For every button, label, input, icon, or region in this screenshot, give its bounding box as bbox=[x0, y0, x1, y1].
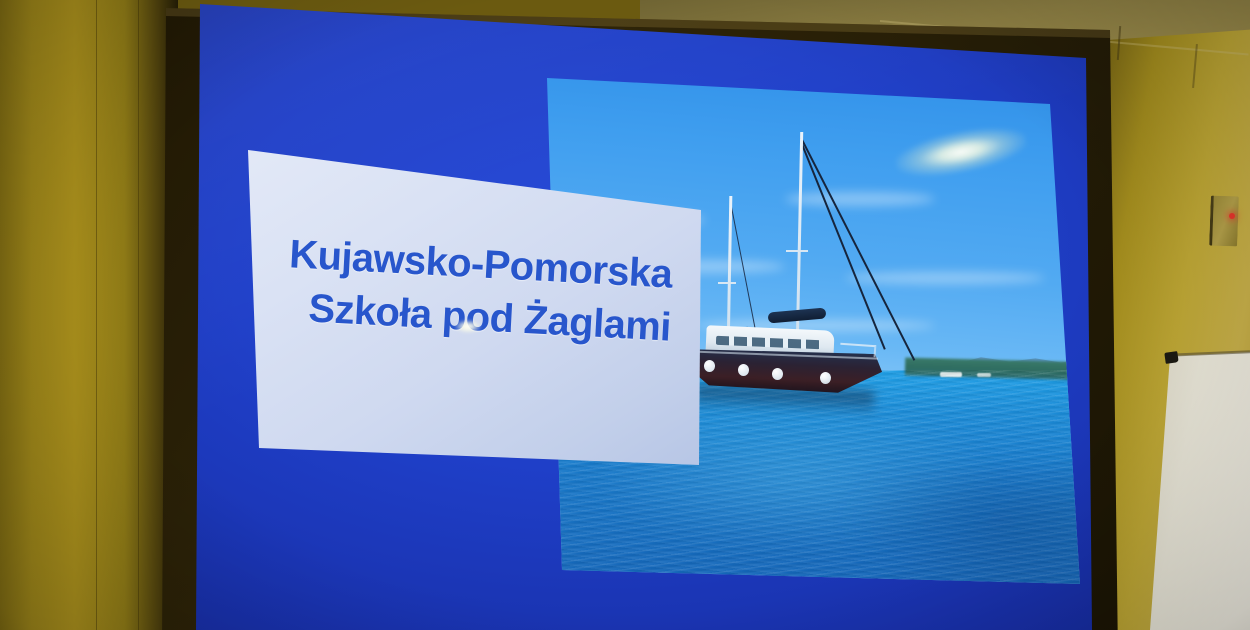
water-shadow bbox=[845, 472, 1085, 587]
fender bbox=[820, 372, 831, 384]
left-wall bbox=[0, 0, 178, 630]
conference-room-scene: Kujawsko-Pomorska Szkoła pod Żaglami bbox=[0, 0, 1250, 630]
flipchart-clip[interactable] bbox=[1164, 351, 1178, 364]
status-led-icon bbox=[1229, 213, 1235, 219]
fender bbox=[772, 368, 783, 380]
mast-spreader bbox=[786, 250, 808, 252]
wall-sensor-device[interactable] bbox=[1209, 196, 1239, 247]
fender bbox=[704, 360, 715, 372]
fender bbox=[738, 364, 749, 376]
mast-spreader bbox=[718, 282, 736, 284]
bow-pulpit bbox=[840, 343, 877, 357]
title-card-glare bbox=[455, 320, 481, 333]
